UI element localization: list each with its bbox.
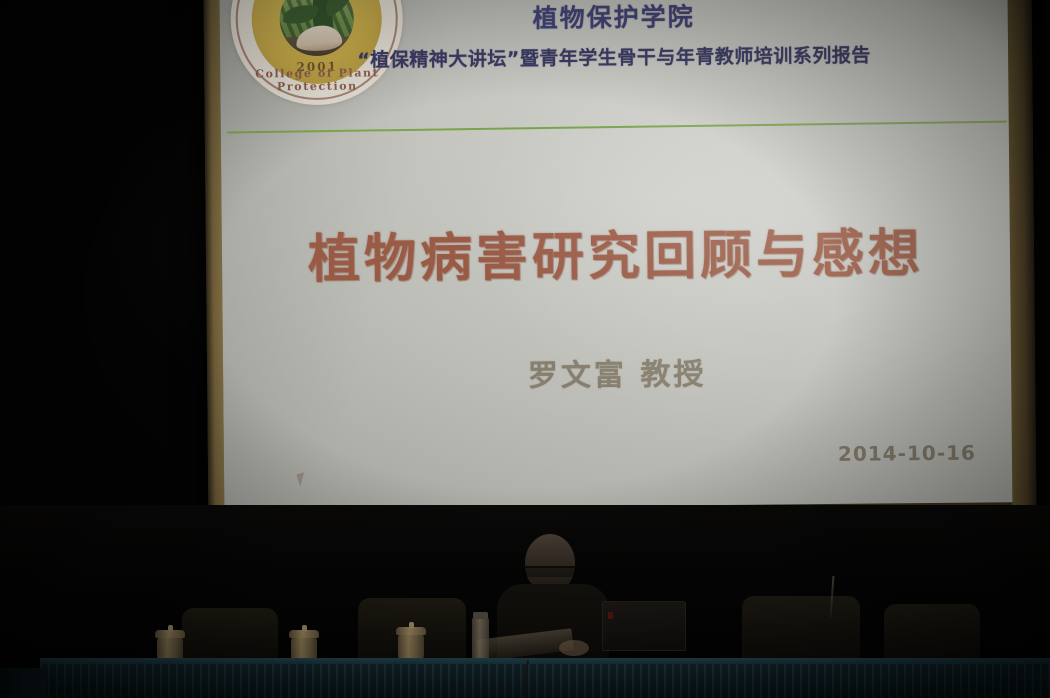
seated-speaker	[497, 534, 609, 662]
lecture-series-line: “植保精神大讲坛”暨青年学生骨干与年青教师培训系列报告	[220, 39, 1008, 74]
slide-surface: 2001 College of Plant Protection 植物保护学院 …	[219, 0, 1012, 510]
speaker-hand	[559, 640, 589, 656]
laptop	[602, 601, 686, 651]
chair	[884, 604, 980, 666]
slide-header: 植物保护学院 “植保精神大讲坛”暨青年学生骨干与年青教师培训系列报告	[219, 0, 1008, 132]
slide-speaker-name: 罗文富 教授	[223, 346, 1011, 398]
laptop-logo-icon	[608, 612, 613, 619]
slide-date: 2014-10-16	[838, 441, 976, 466]
chair	[742, 596, 860, 666]
table-skirt	[40, 664, 1050, 698]
screen-right-border	[1007, 0, 1036, 514]
thermos	[472, 617, 489, 659]
table-left-edge	[0, 668, 46, 698]
lecture-photo: 2001 College of Plant Protection 植物保护学院 …	[0, 0, 1050, 698]
organization-name: 植物保护学院	[220, 0, 1008, 38]
projection-screen: 2001 College of Plant Protection 植物保护学院 …	[203, 0, 1036, 522]
mouse-cursor-icon[interactable]	[296, 472, 307, 487]
eyeglasses-icon	[523, 566, 577, 577]
thermos-cap	[473, 612, 488, 619]
slide-title: 植物病害研究回顾与感想	[222, 210, 1011, 293]
